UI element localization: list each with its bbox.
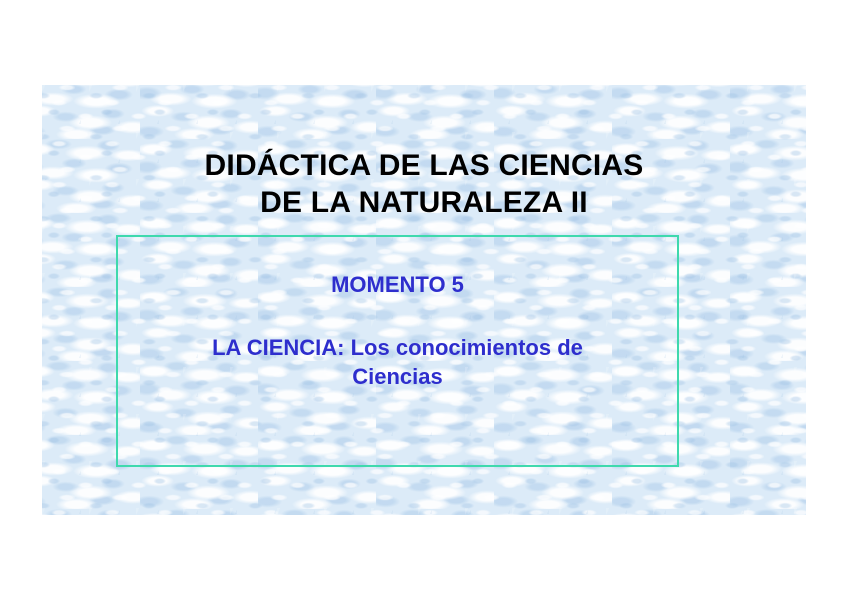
highlighted-content-box-inner: MOMENTO 5 LA CIENCIA: Los conocimientos … bbox=[118, 237, 677, 465]
topic-subheading-line-2: Ciencias bbox=[126, 362, 669, 391]
slide-title-line-1: DIDÁCTICA DE LAS CIENCIAS bbox=[42, 147, 806, 184]
topic-subheading-line-1: LA CIENCIA: Los conocimientos de bbox=[126, 333, 669, 362]
slide-title: DIDÁCTICA DE LAS CIENCIAS DE LA NATURALE… bbox=[42, 147, 806, 221]
moment-heading: MOMENTO 5 bbox=[118, 271, 677, 298]
highlighted-content-box: MOMENTO 5 LA CIENCIA: Los conocimientos … bbox=[116, 235, 679, 467]
slide-canvas: DIDÁCTICA DE LAS CIENCIAS DE LA NATURALE… bbox=[42, 85, 806, 515]
slide-content: DIDÁCTICA DE LAS CIENCIAS DE LA NATURALE… bbox=[42, 85, 806, 515]
topic-subheading: LA CIENCIA: Los conocimientos de Ciencia… bbox=[126, 333, 669, 391]
slide-title-line-2: DE LA NATURALEZA II bbox=[42, 184, 806, 221]
